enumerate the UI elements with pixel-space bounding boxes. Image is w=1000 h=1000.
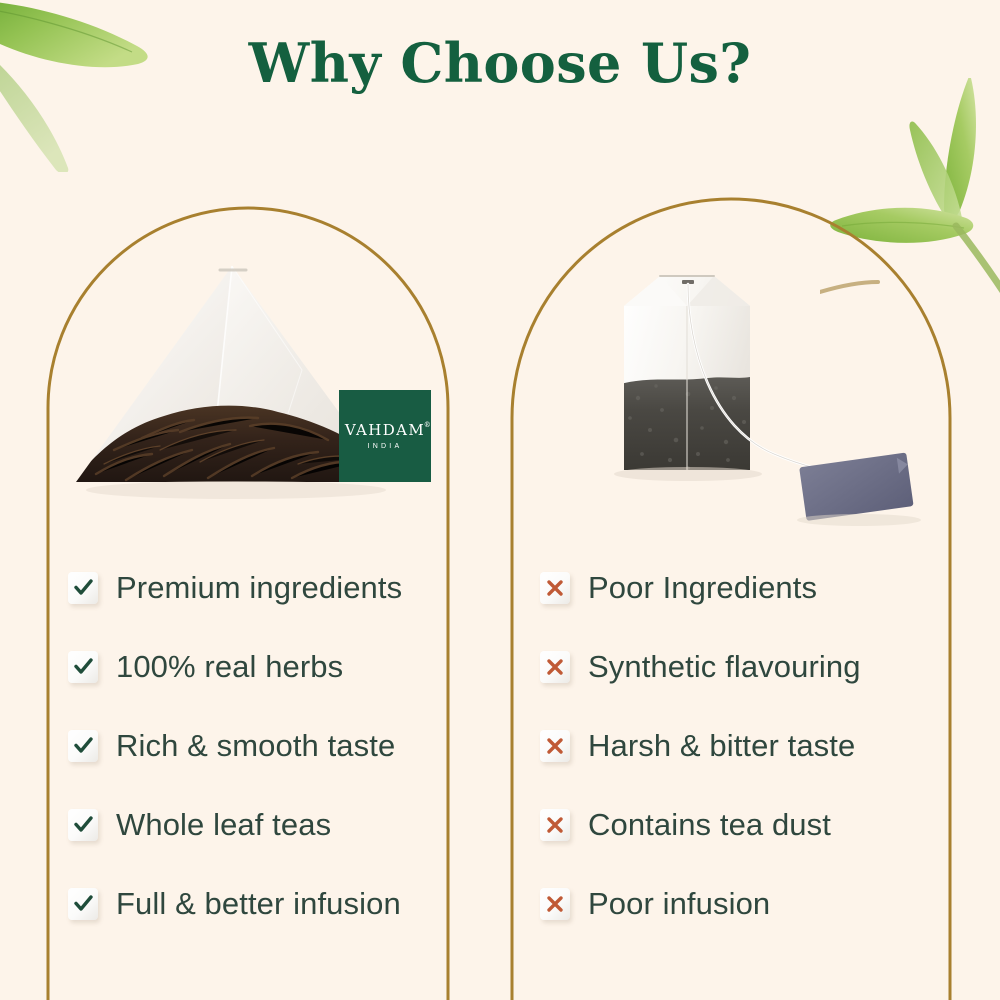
- list-item: Poor infusion: [540, 864, 950, 943]
- list-item-label: Full & better infusion: [116, 888, 401, 919]
- list-item-label: Synthetic flavouring: [588, 651, 861, 682]
- cons-list: Poor Ingredients Synthetic flavouring Ha…: [540, 548, 950, 943]
- cross-icon: [540, 888, 570, 920]
- list-item-label: Contains tea dust: [588, 809, 831, 840]
- vahdam-subtitle: INDIA: [368, 443, 403, 450]
- list-item: Whole leaf teas: [68, 785, 468, 864]
- list-item: Contains tea dust: [540, 785, 950, 864]
- paper-teabag-image: [604, 258, 944, 530]
- list-item: Harsh & bitter taste: [540, 706, 950, 785]
- cross-icon: [540, 651, 570, 683]
- list-item: Poor Ingredients: [540, 548, 950, 627]
- check-icon: [68, 809, 98, 841]
- list-item-label: 100% real herbs: [116, 651, 343, 682]
- cross-icon: [540, 572, 570, 604]
- list-item-label: Harsh & bitter taste: [588, 730, 855, 761]
- list-item: Full & better infusion: [68, 864, 468, 943]
- list-item-label: Rich & smooth taste: [116, 730, 395, 761]
- list-item-label: Premium ingredients: [116, 572, 402, 603]
- list-item: Rich & smooth taste: [68, 706, 468, 785]
- check-icon: [68, 651, 98, 683]
- list-item: Premium ingredients: [68, 548, 468, 627]
- check-icon: [68, 572, 98, 604]
- vahdam-brand-badge: VAHDAM® INDIA: [339, 390, 431, 482]
- pros-list: Premium ingredients 100% real herbs Rich…: [68, 548, 468, 943]
- registered-mark: ®: [424, 422, 432, 429]
- list-item-label: Poor Ingredients: [588, 572, 817, 603]
- cross-icon: [540, 809, 570, 841]
- check-icon: [68, 730, 98, 762]
- list-item: 100% real herbs: [68, 627, 468, 706]
- list-item-label: Poor infusion: [588, 888, 770, 919]
- why-choose-us-graphic: Why Choose Us?: [0, 0, 1000, 1000]
- cross-icon: [540, 730, 570, 762]
- list-item-label: Whole leaf teas: [116, 809, 331, 840]
- page-title: Why Choose Us?: [0, 36, 1000, 90]
- check-icon: [68, 888, 98, 920]
- list-item: Synthetic flavouring: [540, 627, 950, 706]
- vahdam-wordmark: VAHDAM®: [345, 423, 425, 438]
